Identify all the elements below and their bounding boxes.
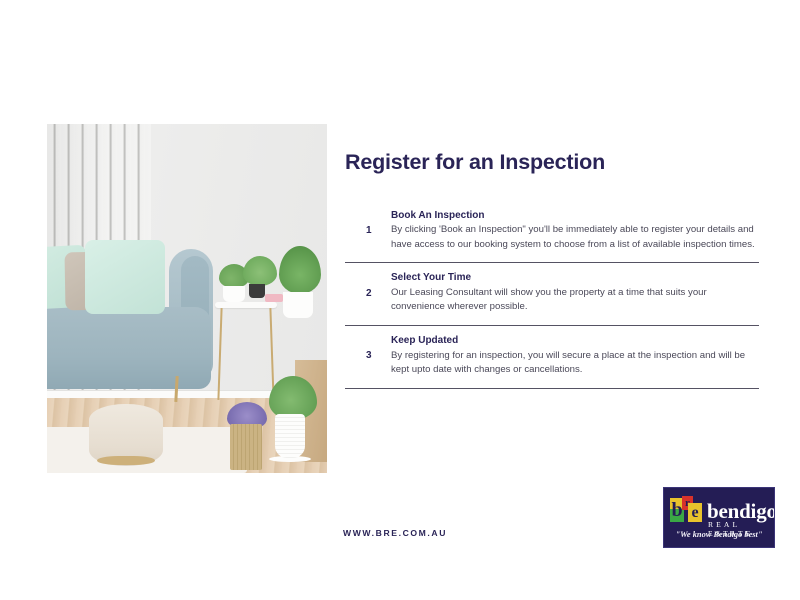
side-table-top [215,302,277,308]
logo-letter-e: e [688,503,702,522]
plant-pot-white-large [283,292,313,318]
step-heading-1: Book An Inspection [391,209,759,223]
website-url[interactable]: WWW.BRE.COM.AU [343,528,447,538]
plant-pot-ribbed-gold [230,424,262,470]
logo-bre-monogram: b r e [670,496,702,522]
plant-spider-icon [243,256,277,286]
step-body-1: Book An Inspection By clicking 'Book an … [391,209,759,253]
book-stack [265,294,283,302]
logo-word-bendigo: bendigo [707,501,775,522]
plant-pot-black [249,284,265,298]
sofa-seat [47,307,211,389]
step-text-1: By clicking 'Book an Inspection" you'll … [391,223,759,252]
logo-tagline: "We know Bendigo best" [664,530,774,539]
photo-scene [47,124,327,473]
steps-bottom-divider [345,388,759,389]
cushion-mint-right [85,240,165,314]
bendigo-real-estate-logo: b r e bendigo REAL ESTATE "We know Bendi… [663,487,775,548]
step-text-3: By registering for an inspection, you wi… [391,349,759,378]
step-item-2: 2 Select Your Time Our Leasing Consultan… [345,262,759,325]
step-text-2: Our Leasing Consultant will show you the… [391,286,759,315]
step-number-1: 1 [345,225,391,236]
step-heading-2: Select Your Time [391,271,759,285]
step-item-1: 1 Book An Inspection By clicking 'Book a… [345,201,759,263]
ottoman-gold-base [97,456,155,465]
plant-pot-white-ribbed [275,414,305,458]
living-room-photo [47,124,327,473]
logo-wordmark-row: b r e bendigo [670,496,775,522]
content-column: Register for an Inspection 1 Book An Ins… [345,150,759,389]
step-body-3: Keep Updated By registering for an inspe… [391,334,759,378]
step-number-2: 2 [345,288,391,299]
steps-list: 1 Book An Inspection By clicking 'Book a… [345,201,759,389]
step-body-2: Select Your Time Our Leasing Consultant … [391,271,759,315]
slide-canvas: Register for an Inspection 1 Book An Ins… [0,0,800,600]
step-number-3: 3 [345,350,391,361]
step-heading-3: Keep Updated [391,334,759,348]
step-item-3: 3 Keep Updated By registering for an ins… [345,325,759,388]
page-title: Register for an Inspection [345,150,759,175]
plant-pot-white-small [223,286,245,302]
